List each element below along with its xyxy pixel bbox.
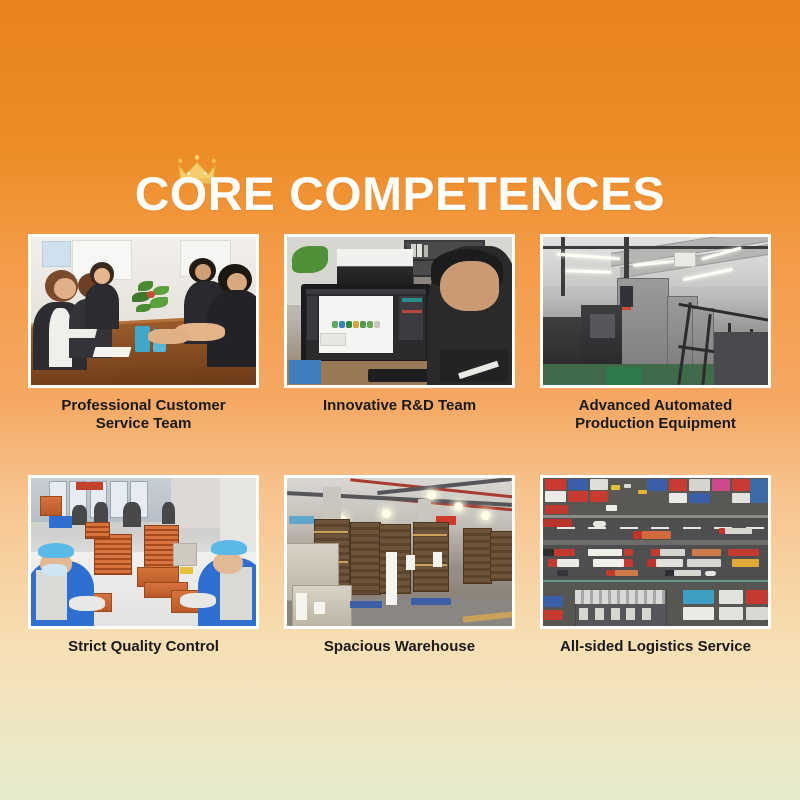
photo-meeting-room (28, 234, 259, 388)
card-caption: Strict Quality Control (28, 638, 259, 656)
card-innovative-rd-team[interactable]: Innovative R&D Team (284, 234, 515, 433)
competences-grid: Professional Customer Service Team (28, 234, 772, 656)
photo-rd-designer (284, 234, 515, 388)
photo-printing-press (540, 234, 771, 388)
page-title-block: CORE COMPETENCES (0, 150, 800, 220)
card-all-sided-logistics-service[interactable]: All-sided Logistics Service (540, 475, 771, 656)
card-caption: All-sided Logistics Service (540, 638, 771, 656)
core-competences-banner: CORE COMPETENCES (0, 0, 800, 800)
photo-logistics-aerial (540, 475, 771, 629)
card-caption: Advanced Automated Production Equipment (540, 397, 771, 433)
page-title: CORE COMPETENCES (135, 150, 665, 220)
card-caption: Innovative R&D Team (284, 397, 515, 415)
photo-quality-control (28, 475, 259, 629)
card-spacious-warehouse[interactable]: Spacious Warehouse (284, 475, 515, 656)
card-advanced-automated-production-equipment[interactable]: Advanced Automated Production Equipment (540, 234, 771, 433)
card-professional-customer-service-team[interactable]: Professional Customer Service Team (28, 234, 259, 433)
photo-warehouse (284, 475, 515, 629)
card-caption: Professional Customer Service Team (28, 397, 259, 433)
grid-row-2: Strict Quality Control (28, 475, 772, 656)
grid-row-1: Professional Customer Service Team (28, 234, 772, 433)
card-caption: Spacious Warehouse (284, 638, 515, 656)
card-strict-quality-control[interactable]: Strict Quality Control (28, 475, 259, 656)
